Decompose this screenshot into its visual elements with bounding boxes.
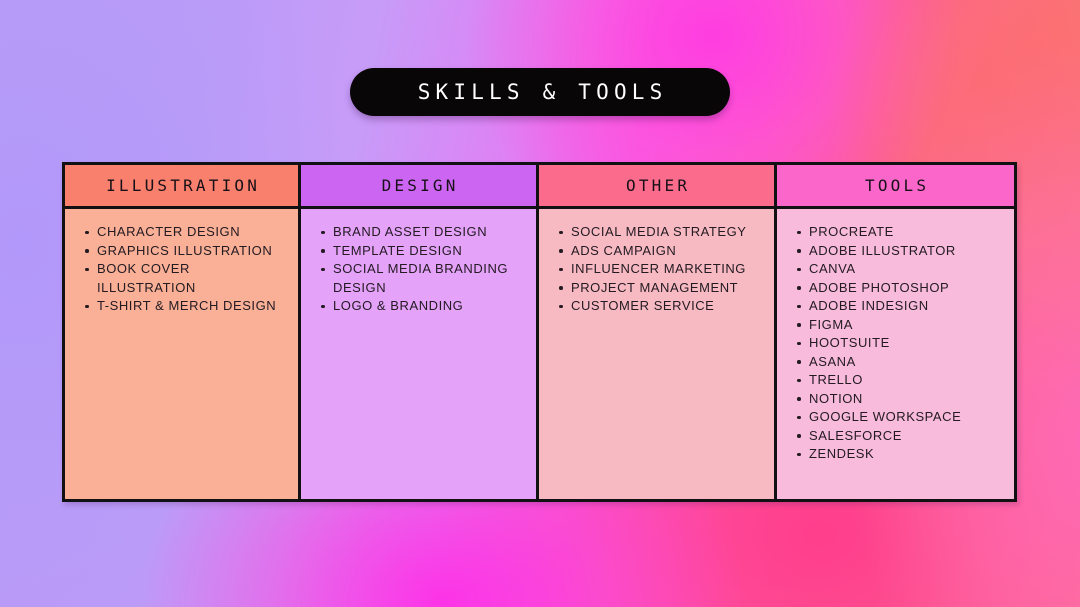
list-item: PROCREATE xyxy=(807,223,1004,242)
list-item: NOTION xyxy=(807,390,1004,409)
column-body-design: BRAND ASSET DESIGN TEMPLATE DESIGN SOCIA… xyxy=(301,209,536,499)
list-item: ADOBE ILLUSTRATOR xyxy=(807,242,1004,261)
list-item: ASANA xyxy=(807,353,1004,372)
column-illustration: ILLUSTRATION CHARACTER DESIGN GRAPHICS I… xyxy=(65,165,301,499)
column-body-other: SOCIAL MEDIA STRATEGY ADS CAMPAIGN INFLU… xyxy=(539,209,774,499)
list-item: TRELLO xyxy=(807,371,1004,390)
skills-table: ILLUSTRATION CHARACTER DESIGN GRAPHICS I… xyxy=(62,162,1017,502)
list-item: GRAPHICS ILLUSTRATION xyxy=(95,242,288,261)
list-item: SOCIAL MEDIA STRATEGY xyxy=(569,223,764,242)
column-header-label: TOOLS xyxy=(862,176,929,195)
tool-list: PROCREATE ADOBE ILLUSTRATOR CANVA ADOBE … xyxy=(789,223,1004,464)
list-item: TEMPLATE DESIGN xyxy=(331,242,526,261)
page-title: SKILLS & TOOLS xyxy=(413,80,668,104)
list-item: SOCIAL MEDIA BRANDING DESIGN xyxy=(331,260,526,297)
list-item: ZENDESK xyxy=(807,445,1004,464)
list-item: SALESFORCE xyxy=(807,427,1004,446)
column-design: DESIGN BRAND ASSET DESIGN TEMPLATE DESIG… xyxy=(301,165,539,499)
list-item: ADS CAMPAIGN xyxy=(569,242,764,261)
column-header-label: OTHER xyxy=(623,176,690,195)
list-item: BRAND ASSET DESIGN xyxy=(331,223,526,242)
list-item: BOOK COVER ILLUSTRATION xyxy=(95,260,288,297)
list-item: T-SHIRT & MERCH DESIGN xyxy=(95,297,288,316)
list-item: CHARACTER DESIGN xyxy=(95,223,288,242)
list-item: CANVA xyxy=(807,260,1004,279)
list-item: PROJECT MANAGEMENT xyxy=(569,279,764,298)
column-header-design: DESIGN xyxy=(301,165,536,209)
column-header-label: DESIGN xyxy=(378,176,458,195)
column-header-other: OTHER xyxy=(539,165,774,209)
column-other: OTHER SOCIAL MEDIA STRATEGY ADS CAMPAIGN… xyxy=(539,165,777,499)
list-item: FIGMA xyxy=(807,316,1004,335)
slide-canvas: SKILLS & TOOLS ILLUSTRATION CHARACTER DE… xyxy=(0,0,1080,607)
skill-list-other: SOCIAL MEDIA STRATEGY ADS CAMPAIGN INFLU… xyxy=(551,223,764,316)
list-item: GOOGLE WORKSPACE xyxy=(807,408,1004,427)
column-body-illustration: CHARACTER DESIGN GRAPHICS ILLUSTRATION B… xyxy=(65,209,298,499)
list-item: ADOBE PHOTOSHOP xyxy=(807,279,1004,298)
column-body-tools: PROCREATE ADOBE ILLUSTRATOR CANVA ADOBE … xyxy=(777,209,1014,499)
column-header-tools: TOOLS xyxy=(777,165,1014,209)
page-title-pill: SKILLS & TOOLS xyxy=(350,68,730,116)
list-item: ADOBE INDESIGN xyxy=(807,297,1004,316)
skill-list-design: BRAND ASSET DESIGN TEMPLATE DESIGN SOCIA… xyxy=(313,223,526,316)
column-header-illustration: ILLUSTRATION xyxy=(65,165,298,209)
column-tools: TOOLS PROCREATE ADOBE ILLUSTRATOR CANVA … xyxy=(777,165,1014,499)
list-item: LOGO & BRANDING xyxy=(331,297,526,316)
list-item: CUSTOMER SERVICE xyxy=(569,297,764,316)
column-header-label: ILLUSTRATION xyxy=(103,176,260,195)
list-item: HOOTSUITE xyxy=(807,334,1004,353)
list-item: INFLUENCER MARKETING xyxy=(569,260,764,279)
skill-list-illustration: CHARACTER DESIGN GRAPHICS ILLUSTRATION B… xyxy=(77,223,288,316)
